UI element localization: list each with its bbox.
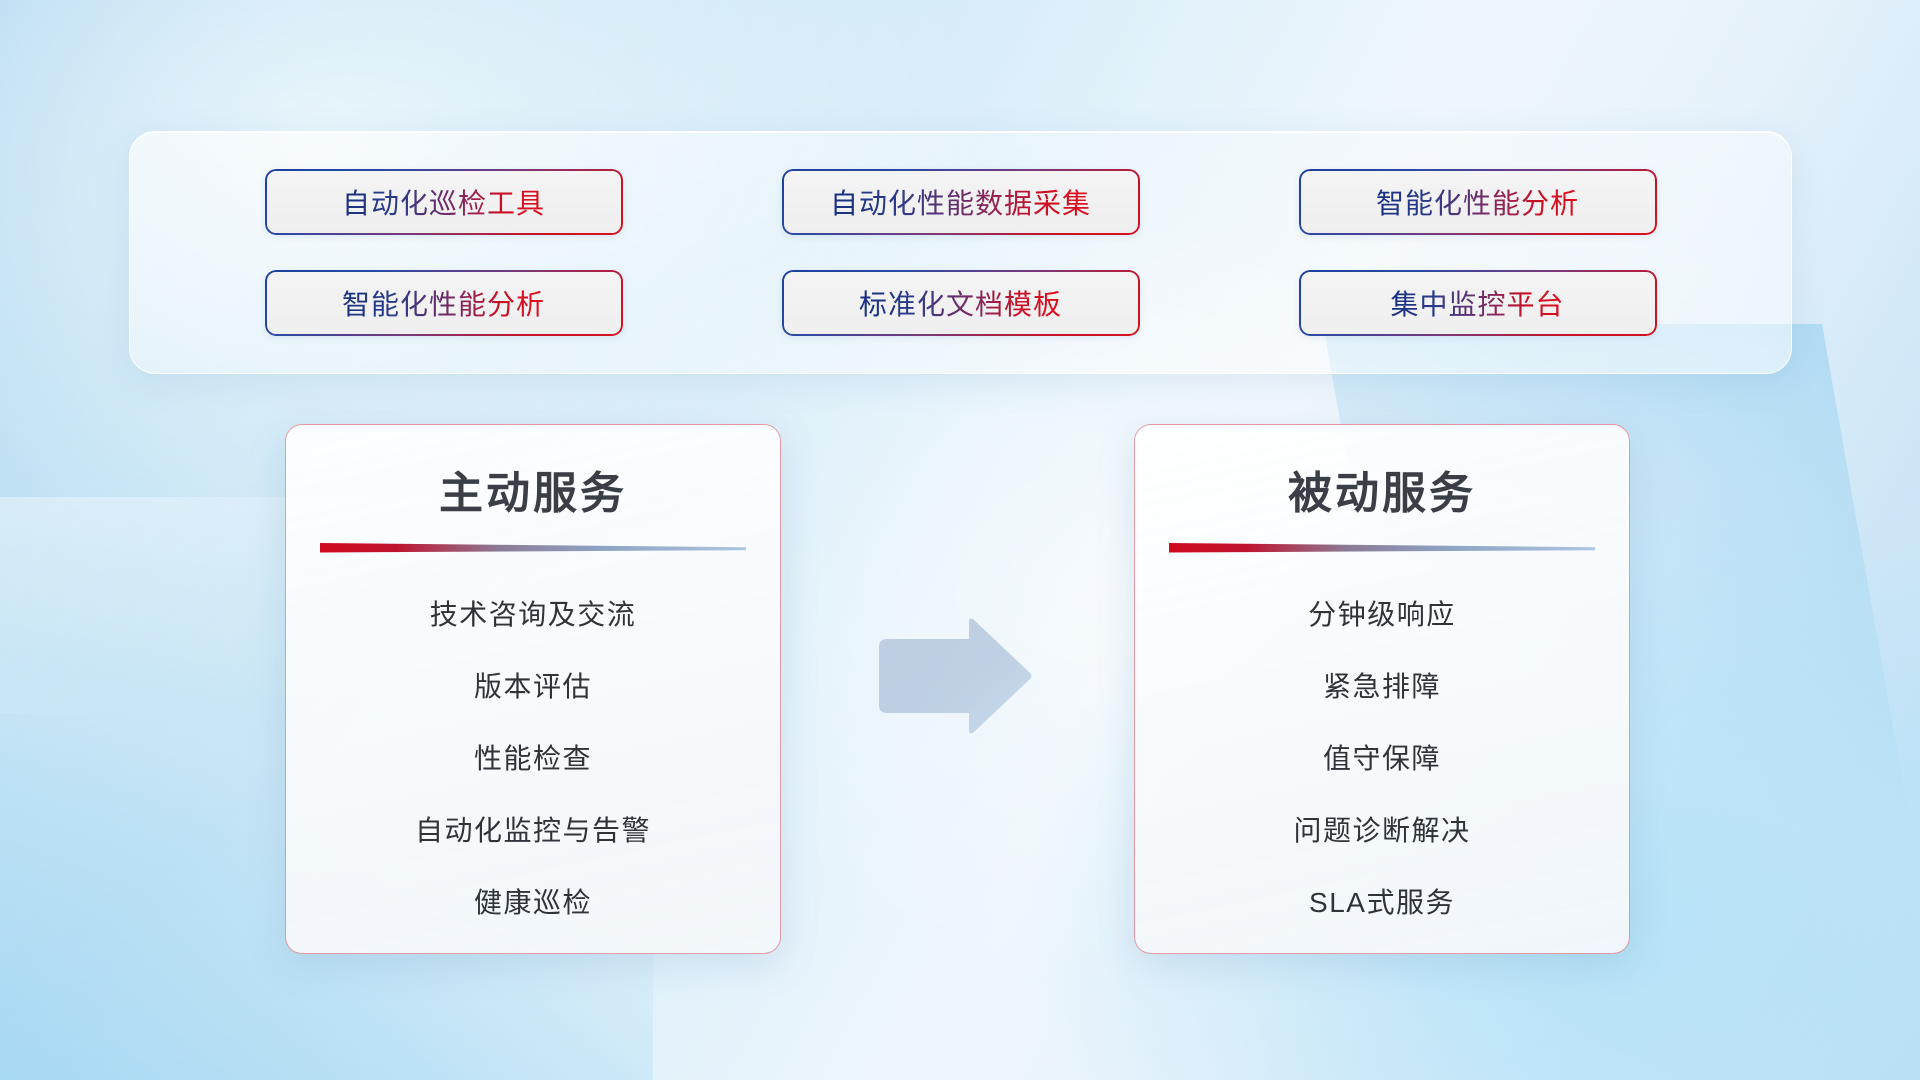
tool-pill-label: 集中监控平台 bbox=[1390, 283, 1564, 323]
tool-pill-label: 自动化巡检工具 bbox=[342, 182, 545, 222]
title-divider bbox=[320, 541, 746, 555]
tool-pill[interactable]: 标准化文档模板 bbox=[782, 270, 1140, 336]
title-divider bbox=[1169, 541, 1595, 555]
list-item: 分钟级响应 bbox=[1308, 579, 1456, 651]
list-item: SLA式服务 bbox=[1309, 867, 1455, 939]
list-item: 自动化监控与告警 bbox=[415, 795, 651, 867]
flow-arrow-right-icon bbox=[873, 616, 1033, 736]
tool-pill-label: 标准化文档模板 bbox=[859, 283, 1062, 323]
list-item: 紧急排障 bbox=[1323, 651, 1441, 723]
tool-pill-label: 智能化性能分析 bbox=[342, 283, 545, 323]
tool-pill[interactable]: 集中监控平台 bbox=[1299, 270, 1657, 336]
tool-pill[interactable]: 智能化性能分析 bbox=[1299, 169, 1657, 235]
list-item: 技术咨询及交流 bbox=[430, 579, 637, 651]
tool-pill[interactable]: 自动化性能数据采集 bbox=[782, 169, 1140, 235]
tool-pill[interactable]: 智能化性能分析 bbox=[265, 270, 623, 336]
list-item: 问题诊断解决 bbox=[1293, 795, 1470, 867]
service-card-list: 技术咨询及交流 版本评估 性能检查 自动化监控与告警 健康巡检 bbox=[286, 579, 780, 939]
tool-pill-label: 智能化性能分析 bbox=[1376, 182, 1579, 222]
list-item: 值守保障 bbox=[1323, 723, 1441, 795]
list-item: 版本评估 bbox=[474, 651, 592, 723]
tool-pill[interactable]: 自动化巡检工具 bbox=[265, 169, 623, 235]
service-card-title: 被动服务 bbox=[1135, 457, 1629, 521]
list-item: 性能检查 bbox=[474, 723, 592, 795]
service-card-list: 分钟级响应 紧急排障 值守保障 问题诊断解决 SLA式服务 bbox=[1135, 579, 1629, 939]
tool-pill-label: 自动化性能数据采集 bbox=[830, 182, 1091, 222]
capability-tools-grid: 自动化巡检工具 自动化性能数据采集 智能化性能分析 智能化性能分析 标准化文档模… bbox=[130, 132, 1791, 373]
service-card-passive: 被动服务 分钟级响应 紧急排障 值守保障 问题诊断解决 SLA式服务 bbox=[1134, 424, 1630, 954]
list-item: 健康巡检 bbox=[474, 867, 592, 939]
service-card-title: 主动服务 bbox=[286, 457, 780, 521]
capability-tools-panel: 自动化巡检工具 自动化性能数据采集 智能化性能分析 智能化性能分析 标准化文档模… bbox=[129, 131, 1792, 374]
service-card-active: 主动服务 技术咨询及交流 版本评估 性能检查 自动化监控与告警 健康巡检 bbox=[285, 424, 781, 954]
